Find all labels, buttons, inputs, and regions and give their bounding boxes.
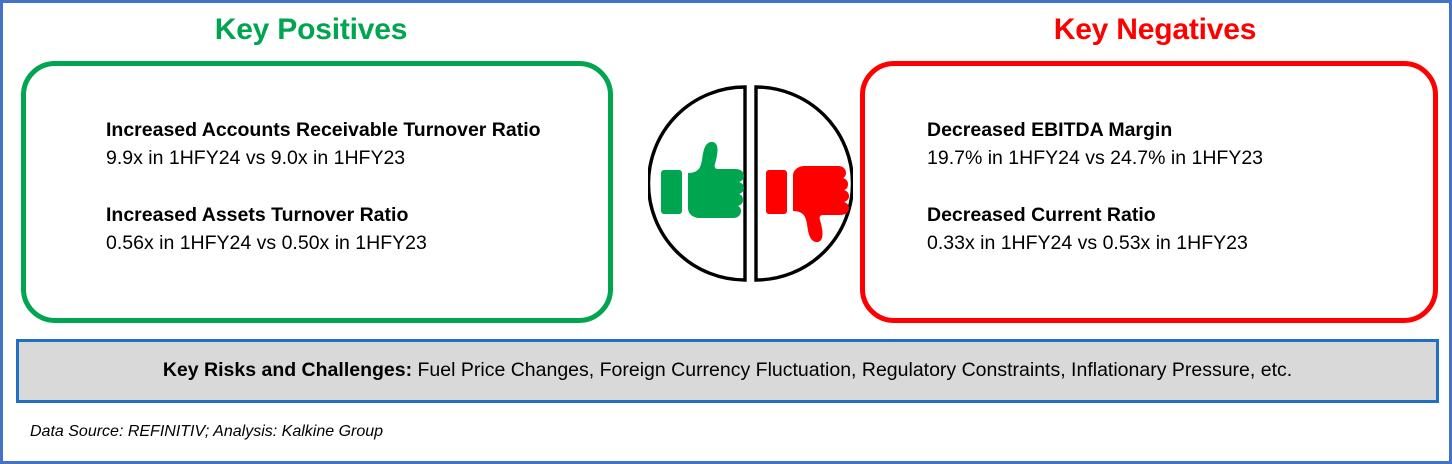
- key-risks-label: Key Risks and Challenges:: [163, 359, 412, 381]
- metric-item: Decreased Current Ratio 0.33x in 1HFY24 …: [927, 201, 1409, 258]
- metric-detail: 0.56x in 1HFY24 vs 0.50x in 1HFY23: [106, 229, 584, 257]
- split-circle-thumbs-icon: [648, 81, 853, 286]
- key-risks-text: Key Risks and Challenges: Fuel Price Cha…: [163, 358, 1292, 383]
- metric-item: Decreased EBITDA Margin 19.7% in 1HFY24 …: [927, 116, 1409, 173]
- key-positives-heading: Key Positives: [3, 15, 619, 45]
- metric-item: Increased Assets Turnover Ratio 0.56x in…: [106, 201, 584, 258]
- key-negatives-heading: Key Negatives: [861, 15, 1449, 45]
- metric-title: Decreased EBITDA Margin: [927, 116, 1409, 144]
- key-negatives-metric-list: Decreased EBITDA Margin 19.7% in 1HFY24 …: [927, 116, 1409, 257]
- metric-title: Decreased Current Ratio: [927, 201, 1409, 229]
- data-source-footer: Data Source: REFINITIV; Analysis: Kalkin…: [30, 423, 383, 441]
- metric-title: Increased Accounts Receivable Turnover R…: [106, 116, 584, 144]
- key-positives-panel: Increased Accounts Receivable Turnover R…: [21, 61, 613, 323]
- key-risks-bar: Key Risks and Challenges: Fuel Price Cha…: [16, 339, 1439, 403]
- metric-title: Increased Assets Turnover Ratio: [106, 201, 584, 229]
- key-positives-metric-list: Increased Accounts Receivable Turnover R…: [106, 116, 584, 257]
- metric-item: Increased Accounts Receivable Turnover R…: [106, 116, 584, 173]
- metric-detail: 19.7% in 1HFY24 vs 24.7% in 1HFY23: [927, 144, 1409, 172]
- infographic-canvas: Key Positives Key Negatives Increased Ac…: [0, 0, 1452, 464]
- key-risks-body: Fuel Price Changes, Foreign Currency Flu…: [412, 359, 1292, 381]
- metric-detail: 9.9x in 1HFY24 vs 9.0x in 1HFY23: [106, 144, 584, 172]
- key-negatives-panel: Decreased EBITDA Margin 19.7% in 1HFY24 …: [860, 61, 1438, 323]
- metric-detail: 0.33x in 1HFY24 vs 0.53x in 1HFY23: [927, 229, 1409, 257]
